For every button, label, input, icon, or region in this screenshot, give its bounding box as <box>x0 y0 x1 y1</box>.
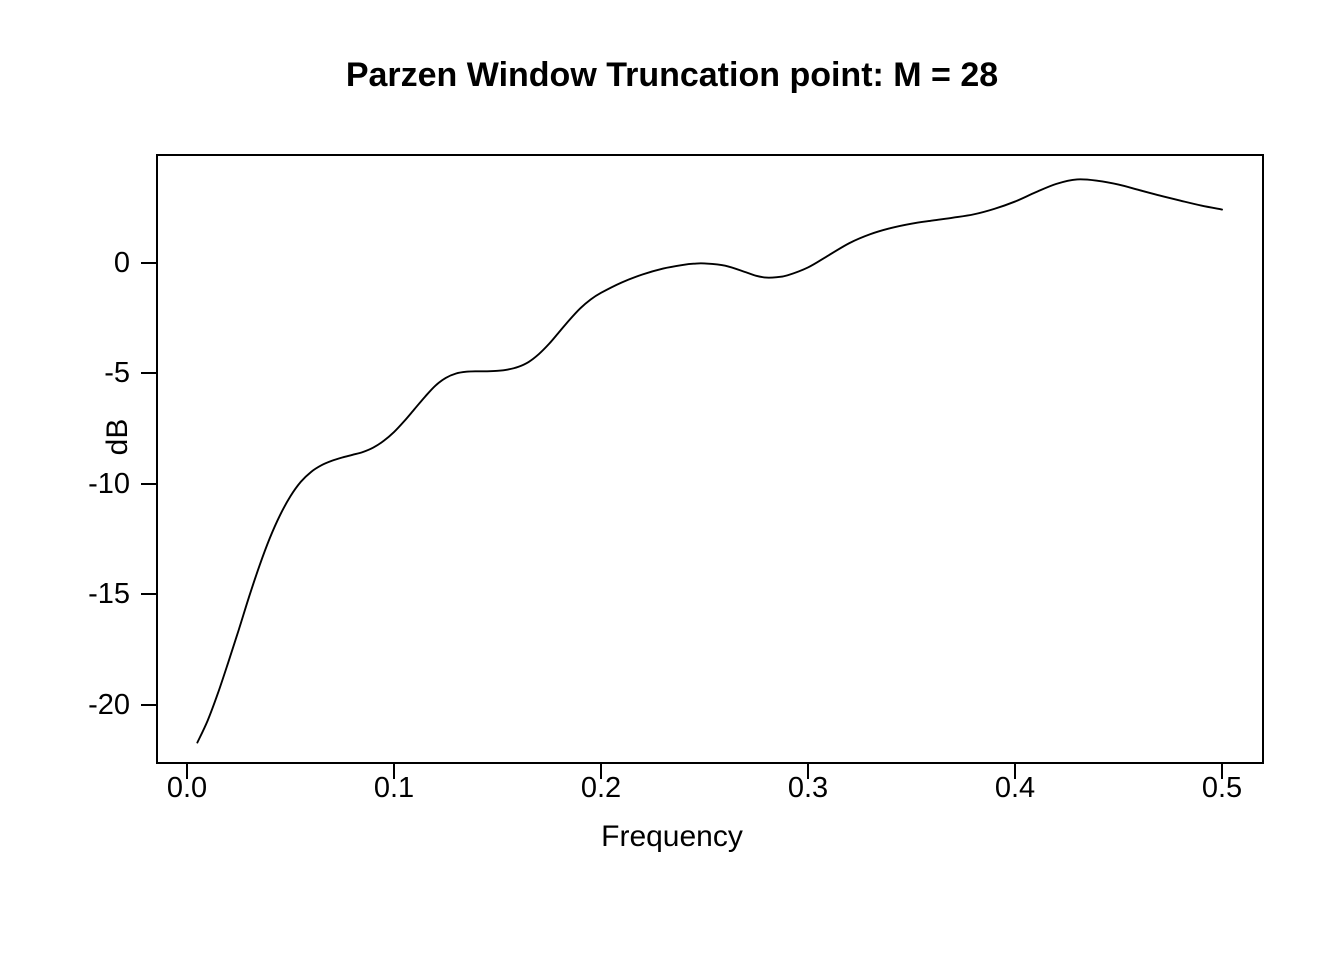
y-tick-label-0: 0 <box>40 247 130 280</box>
x-tick-label-1: 0.1 <box>349 772 439 805</box>
y-axis-label: dB <box>101 377 135 497</box>
y-tick-label-4: -20 <box>40 689 130 722</box>
x-tick-label-5: 0.5 <box>1177 772 1267 805</box>
x-tick-label-2: 0.2 <box>556 772 646 805</box>
x-tick-marks <box>187 763 1222 779</box>
plot-frame <box>157 155 1263 763</box>
y-tick-marks <box>141 263 157 705</box>
chart-figure: Parzen Window Truncation point: M = 28 0… <box>0 0 1344 960</box>
spectrum-line <box>197 179 1222 742</box>
x-tick-label-4: 0.4 <box>970 772 1060 805</box>
x-tick-label-3: 0.3 <box>763 772 853 805</box>
x-axis-label: Frequency <box>0 820 1344 854</box>
y-tick-label-3: -15 <box>40 578 130 611</box>
x-tick-label-0: 0.0 <box>142 772 232 805</box>
plot-canvas <box>0 0 1344 960</box>
